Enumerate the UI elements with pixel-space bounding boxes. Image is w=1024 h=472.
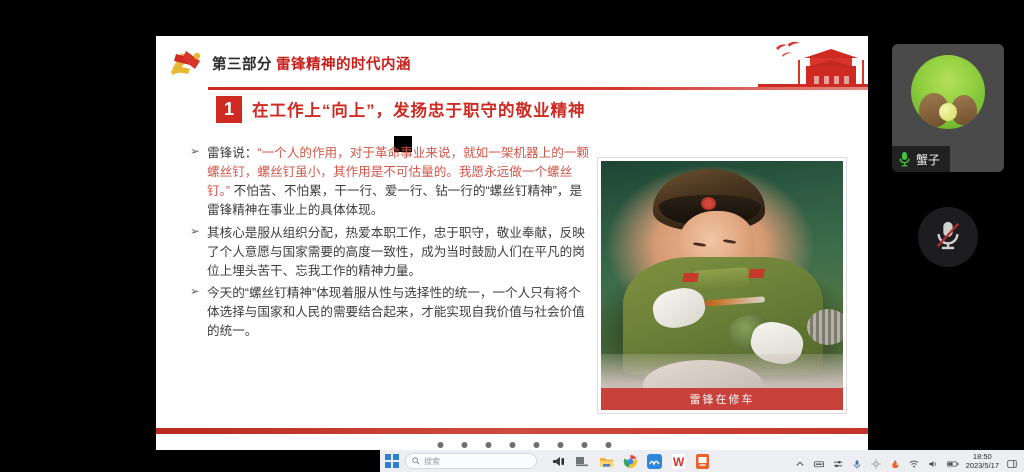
pager-dot-5[interactable] — [510, 442, 516, 448]
sound-app-icon[interactable] — [551, 454, 566, 469]
task-view-icon[interactable] — [575, 454, 590, 469]
pager-dot-8[interactable] — [582, 442, 588, 448]
volume-icon[interactable] — [928, 456, 939, 467]
search-placeholder: 搜索 — [424, 456, 440, 467]
subtitle-row: 1 在工作上“向上”，发扬忠于职守的敬业精神 — [156, 92, 868, 130]
slide-section-label: 第三部分 — [212, 53, 272, 74]
battery-icon[interactable] — [947, 456, 958, 467]
pager-dot-4[interactable] — [486, 442, 492, 448]
ime-settings-icon[interactable] — [833, 456, 844, 467]
wps-writer-icon[interactable]: W — [671, 454, 686, 469]
slide-pagination-dots[interactable] — [413, 441, 612, 448]
slide-body: ➢ 雷锋说：“一个人的作用，对于革命事业来说，就如一架机器上的一颗螺丝钉，螺丝钉… — [156, 136, 868, 428]
avatar-ball — [939, 103, 957, 121]
bullet-text: 今天的“螺丝钉精神”体现着服从性与选择性的统一，一个人只有将个体选择与国家和人民… — [207, 286, 585, 338]
slide-header: 第三部分 雷锋精神的时代内涵 — [156, 36, 868, 88]
bullet-text-plain: 雷锋说： — [207, 146, 257, 160]
mute-toggle-button[interactable] — [918, 207, 978, 267]
chevron-up-icon[interactable] — [795, 456, 806, 467]
pager-dot-6[interactable] — [534, 442, 540, 448]
photo-image — [601, 161, 843, 410]
cpc-party-emblem-icon — [166, 47, 206, 79]
bullet-marker: ➢ — [190, 284, 200, 301]
avatar-overlay-text — [917, 63, 979, 70]
participant-name-chip: 蟹子 — [892, 146, 950, 172]
clock-date: 2023/5/17 — [966, 461, 999, 470]
brightness-icon[interactable] — [871, 456, 882, 467]
screen: 第三部分 雷锋精神的时代内涵 — [0, 0, 1024, 472]
wifi-icon[interactable] — [909, 456, 920, 467]
video-participant-tile[interactable]: 蟹子 — [892, 44, 1004, 172]
photo-collar-tab-left — [682, 273, 699, 282]
section-number-badge: 1 — [216, 96, 242, 123]
pager-dot-2[interactable] — [438, 442, 444, 448]
photo-coil — [807, 309, 843, 345]
bullet-list: ➢ 雷锋说：“一个人的作用，对于革命事业来说，就如一架机器上的一颗螺丝钉，螺丝钉… — [190, 144, 590, 344]
microphone-on-icon — [898, 151, 911, 167]
file-explorer-icon[interactable] — [599, 454, 614, 469]
footer-red-bar — [156, 428, 868, 434]
list-item: ➢ 今天的“螺丝钉精神”体现着服从性与选择性的统一，一个人只有将个体选择与国家和… — [190, 284, 590, 341]
photo-cap-badge — [701, 197, 716, 210]
slide-section-title: 雷锋精神的时代内涵 — [276, 53, 411, 74]
flame-icon[interactable] — [890, 456, 901, 467]
svg-text:W: W — [673, 455, 685, 469]
taskbar-clock[interactable]: 18:50 2023/5/17 — [966, 452, 999, 471]
photo-collar-tab-right — [748, 269, 765, 278]
bullet-text-plain-2: 不怕苦、不怕累，干一行、爱一行、钻一行的“螺丝钉精神”，是雷锋精神在事业上的具体… — [207, 184, 582, 217]
pager-dot-7[interactable] — [558, 442, 564, 448]
bullet-marker: ➢ — [190, 224, 200, 241]
photo-caption: 雷锋在修车 — [601, 388, 843, 410]
clock-time: 18:50 — [966, 452, 999, 461]
microphone-tray-icon[interactable] — [852, 456, 863, 467]
windows-start-icon[interactable] — [385, 454, 399, 468]
pager-dot-3[interactable] — [462, 442, 468, 448]
microphone-muted-icon — [934, 219, 962, 256]
participant-name-label: 蟹子 — [916, 151, 940, 168]
chrome-icon[interactable] — [623, 454, 638, 469]
participant-avatar — [911, 55, 985, 129]
pager-dot-1[interactable] — [413, 441, 420, 448]
windows-taskbar[interactable]: 搜索 — [380, 450, 1024, 472]
taskbar-app-icons: W — [551, 454, 710, 469]
wps-presentation-icon[interactable] — [695, 454, 710, 469]
blue-app-icon[interactable] — [647, 454, 662, 469]
header-divider — [208, 87, 868, 90]
shared-presentation-slide[interactable]: 第三部分 雷锋精神的时代内涵 — [156, 36, 868, 450]
tiananmen-gate-icon — [758, 36, 868, 88]
list-item: ➢ 雷锋说：“一个人的作用，对于革命事业来说，就如一架机器上的一颗螺丝钉，螺丝钉… — [190, 144, 590, 221]
pager-dot-9[interactable] — [606, 442, 612, 448]
keyboard-icon[interactable] — [814, 456, 825, 467]
notification-icon[interactable] — [1007, 456, 1018, 467]
subtitle-text: 在工作上“向上”，发扬忠于职守的敬业精神 — [252, 97, 586, 121]
search-input[interactable]: 搜索 — [405, 453, 537, 469]
taskbar-system-tray: 18:50 2023/5/17 — [795, 452, 1024, 471]
lei-feng-repairing-vehicle-photo: 雷锋在修车 — [598, 158, 846, 413]
bullet-text: 其核心是服从组织分配，热爱本职工作，忠于职守，敬业奉献，反映了个人意愿与国家需要… — [207, 226, 585, 278]
taskbar-left: 搜索 — [380, 453, 537, 469]
list-item: ➢ 其核心是服从组织分配，热爱本职工作，忠于职守，敬业奉献，反映了个人意愿与国家… — [190, 224, 590, 281]
search-icon — [412, 452, 420, 470]
bullet-marker: ➢ — [190, 144, 200, 161]
photo-collar — [692, 267, 749, 293]
